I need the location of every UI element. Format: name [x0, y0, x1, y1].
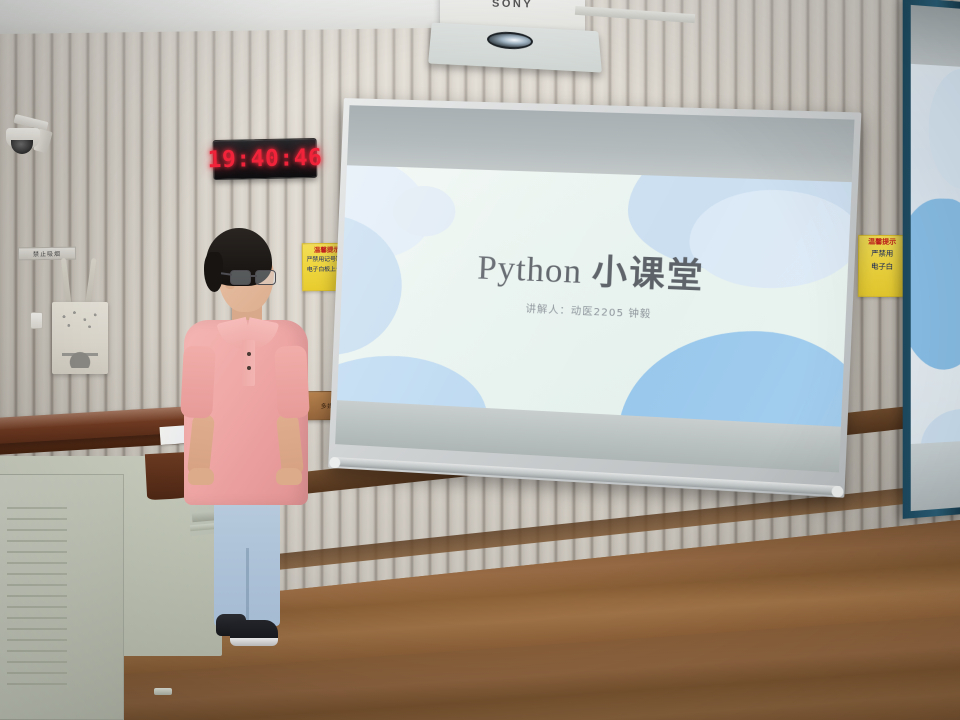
secondary-screen[interactable]: [903, 0, 960, 519]
light-switch[interactable]: [30, 312, 43, 329]
presenter-sleeve-left: [180, 345, 216, 419]
wall-strip-sign-label: 禁止吸烟: [33, 249, 61, 258]
warning-sign-right-line1: 严禁用: [859, 247, 905, 260]
warning-sign-right: 温馨提示 严禁用 电子白: [858, 235, 906, 297]
presenter-pants-seam: [246, 548, 249, 626]
secondary-screen-surface: [911, 5, 960, 511]
slide-title-cjk: 小课堂: [591, 252, 705, 298]
presenter-shoe-sole: [230, 638, 278, 646]
slide-title-latin: Python: [477, 249, 583, 291]
clock-time-display: 19:40:46: [207, 145, 322, 173]
cabinet-handle[interactable]: [154, 688, 172, 695]
tote-bag: [52, 302, 108, 374]
warning-sign-right-line2: 电子白: [859, 260, 905, 273]
presenter-hand-left: [188, 468, 214, 485]
whiteboard[interactable]: Python 小课堂 讲解人：动医2205 钟毅: [328, 98, 861, 498]
glasses-icon: [230, 270, 278, 285]
wall-strip-sign: 禁止吸烟: [18, 247, 76, 261]
secondary-screen-blob-mid: [911, 198, 960, 372]
projected-slide: Python 小课堂 讲解人：动医2205 钟毅: [337, 165, 852, 426]
presenter-hand-right: [276, 468, 302, 485]
warning-sign-right-title: 温馨提示: [859, 238, 905, 247]
led-wall-clock: 19:40:46: [213, 138, 318, 180]
tote-bag-pattern: [60, 310, 100, 332]
projector-brand-label: SONY: [492, 0, 533, 10]
presenter-shirt-placket: [242, 340, 255, 386]
presenter-sleeve-right: [274, 345, 310, 419]
secondary-screen-blob-upper: [929, 67, 960, 190]
glasses-lens-left: [230, 270, 251, 285]
whiteboard-surface: Python 小课堂 讲解人：动医2205 钟毅: [335, 105, 854, 472]
left-metal-cabinet[interactable]: [0, 474, 124, 720]
shirt-button-bottom: [247, 366, 251, 370]
secondary-screen-bottom-band: [911, 441, 960, 511]
secondary-screen-top-band: [911, 5, 960, 67]
slide-blob-bottom-right: [616, 325, 851, 427]
classroom-photo: SONY 19:40:46 禁止吸烟 温馨提示 严禁用记号笔在 电子白板上书写 …: [0, 0, 960, 720]
tote-bag-graphic: [62, 332, 98, 368]
glasses-lens-right: [255, 270, 276, 285]
glasses-bridge: [250, 275, 257, 277]
cabinet-vents: [7, 507, 67, 687]
shirt-button-top: [247, 352, 251, 356]
